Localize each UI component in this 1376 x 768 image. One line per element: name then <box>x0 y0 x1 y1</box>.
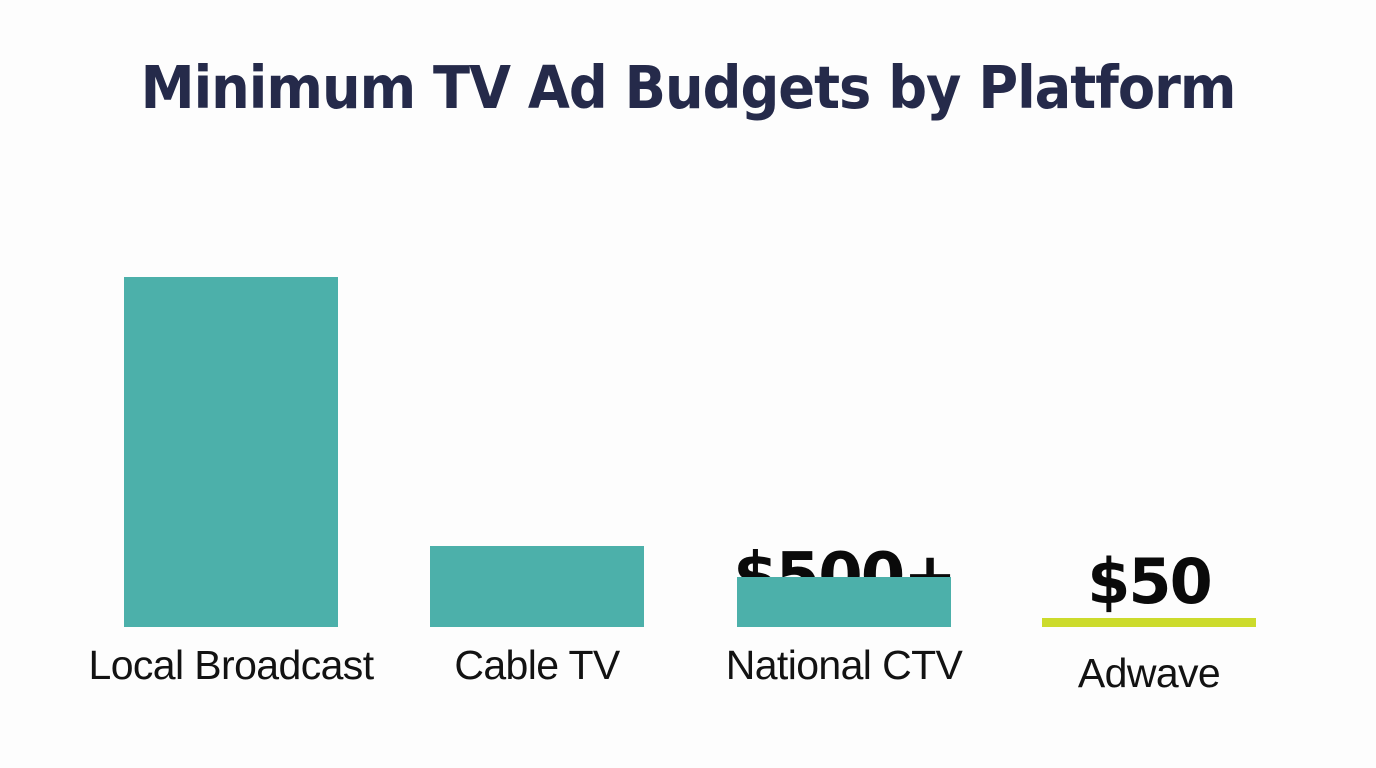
bar-category-label-cable-tv: Cable TV <box>454 645 619 686</box>
bar-national-ctv <box>737 577 951 627</box>
bar-chart-figure: Minimum TV Ad Budgets by Platform $5K+ L… <box>0 0 1376 768</box>
bar-category-label-local-broadcast: Local Broadcast <box>88 645 373 686</box>
bar-local-broadcast <box>124 277 338 627</box>
bar-adwave <box>1042 618 1256 627</box>
bar-value-label-adwave: $50 <box>1087 551 1210 613</box>
bar-category-label-national-ctv: National CTV <box>726 645 963 686</box>
plot-area: $5K+ Local Broadcast $1K+ Cable TV $500+… <box>0 0 1376 768</box>
bar-cable-tv <box>430 546 644 627</box>
bar-category-label-adwave: Adwave <box>1078 653 1220 694</box>
